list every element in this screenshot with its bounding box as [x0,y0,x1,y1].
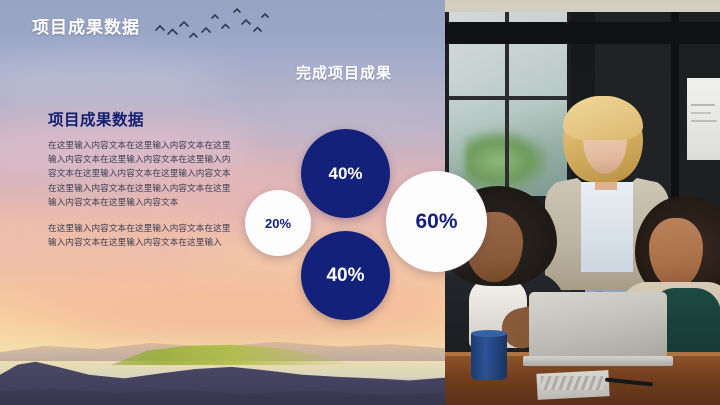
team-photo [445,0,720,405]
paragraph-one: 在这里输入内容文本在这里输入内容文本在这里输入内容文本在这里输入内容文本在这里输… [48,138,234,209]
stat-bubble-20[interactable]: 20% [245,190,311,256]
photo-vignette [445,0,720,405]
stat-bubble-40-bottom[interactable]: 40% [301,231,390,320]
stat-bubble-60[interactable]: 60% [386,171,487,272]
body-copy-block: 在这里输入内容文本在这里输入内容文本在这里输入内容文本在这里输入内容文本在这里输… [48,138,234,249]
slide-canvas: 项目成果数据 项目成果数据 在这里输入内容文本在这里输入内容文本在这里输入内容文… [0,0,720,405]
cloud-decoration [0,60,230,104]
section-heading: 项目成果数据 [48,108,144,130]
cloud-decoration [60,318,445,344]
page-title: 项目成果数据 [32,13,140,38]
stat-bubble-40-top[interactable]: 40% [301,129,390,218]
paragraph-two: 在这里输入内容文本在这里输入内容文本在这里输入内容文本在这里输入内容文本在这里输… [48,221,234,249]
chart-title: 完成项目成果 [296,62,392,83]
birds-flock-icon [150,4,270,50]
cloud-decoration [200,96,445,134]
